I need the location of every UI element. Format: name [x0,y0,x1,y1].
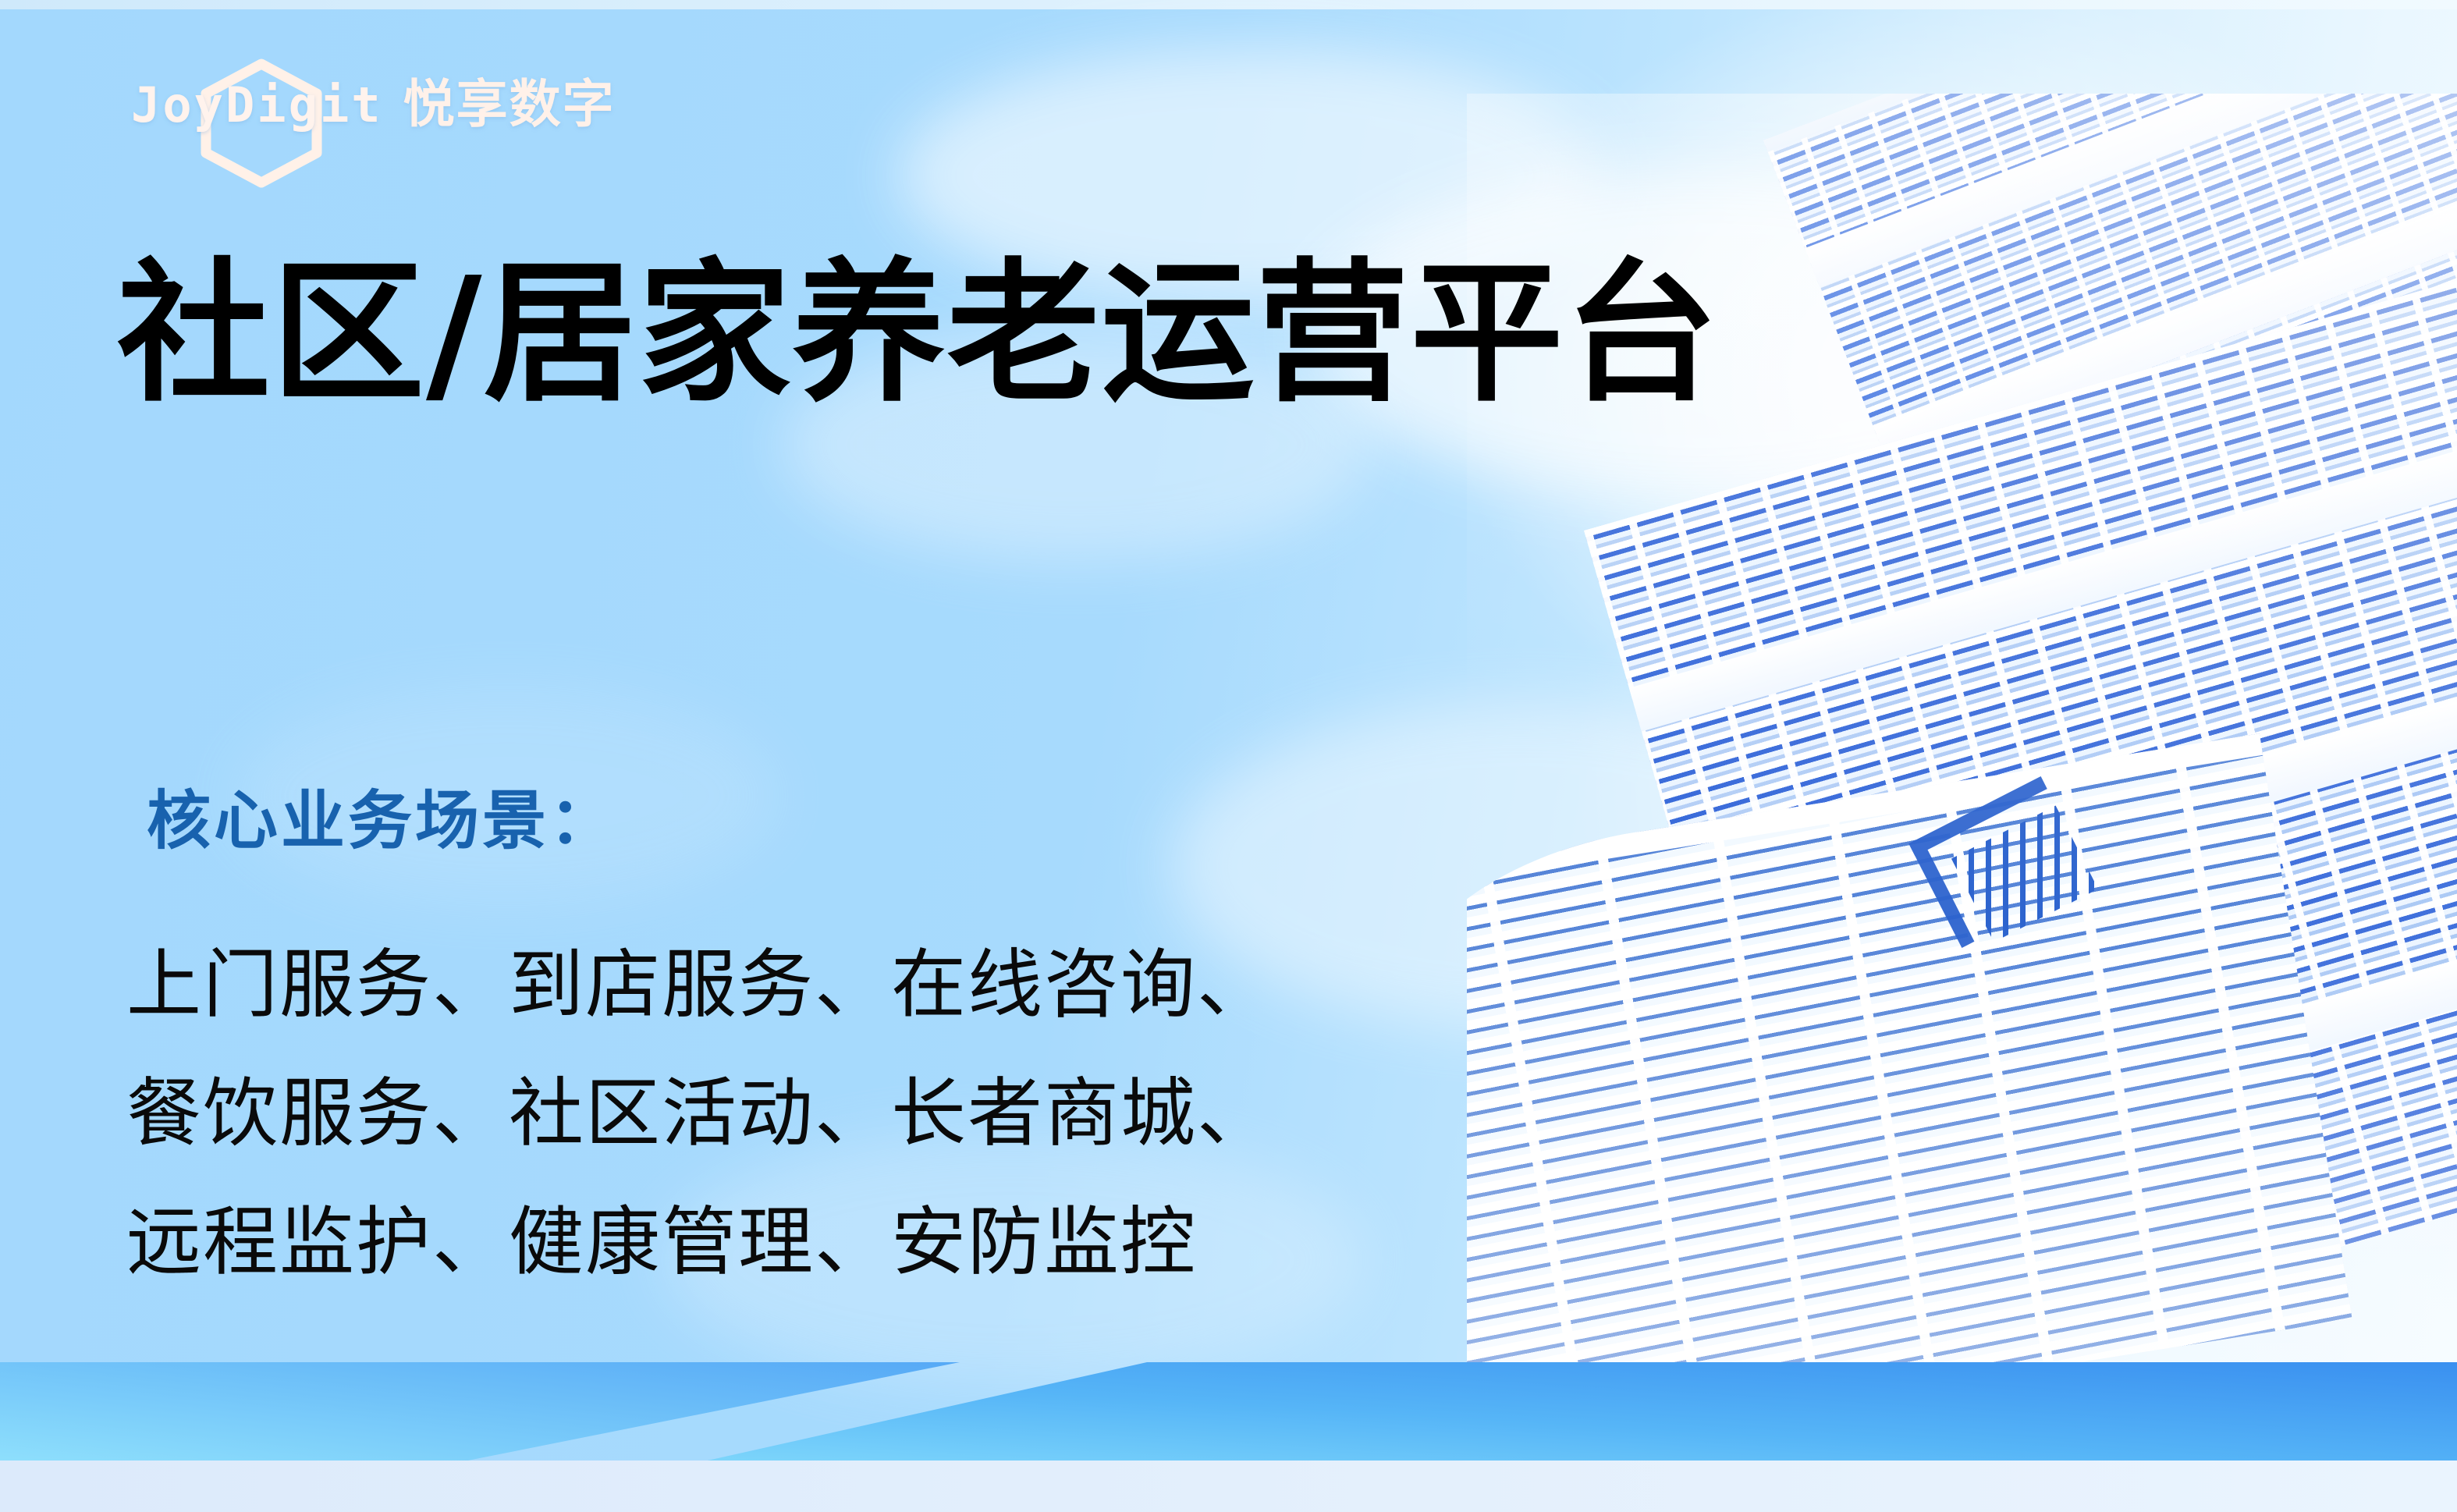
logo-chinese-text: 悦享数字 [403,62,616,137]
scenario-line: 上门服务、到店服务、在线咨询、 [126,921,1570,1049]
logo-english-text: JoyDigit [131,76,383,133]
scenario-list: 上门服务、到店服务、在线咨询、 餐饮服务、社区活动、长者商城、 远程监护、健康管… [126,921,1570,1307]
slide-canvas: JoyDigit 悦享数字 社区/居家养老运营平台 核心业务场景： 上门服务、到… [0,0,2457,1512]
tower-lower-curved [1467,733,2352,1373]
page-title: 社区/居家养老运营平台 [117,257,1720,410]
section-heading: 核心业务场景： [147,768,616,861]
scenario-line: 远程监护、健康管理、安防监控 [126,1178,1570,1307]
tower-mullions [1467,733,2352,1373]
bottom-base-strip [0,1461,2457,1512]
logo-wordmark: JoyDigit 悦享数字 [131,62,616,137]
scenario-line: 餐饮服务、社区活动、长者商城、 [126,1049,1570,1178]
brand-logo[interactable]: JoyDigit 悦享数字 [131,30,693,162]
top-accent-strip [0,0,2457,9]
